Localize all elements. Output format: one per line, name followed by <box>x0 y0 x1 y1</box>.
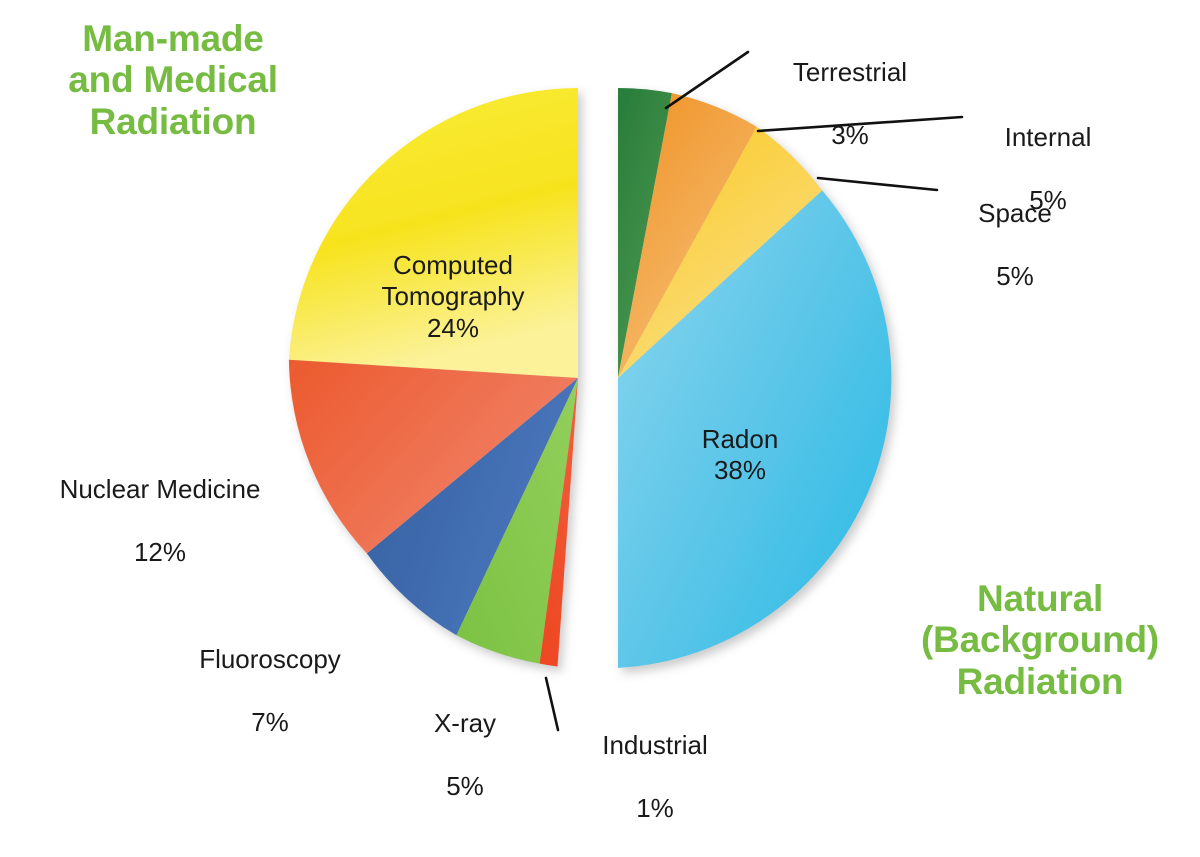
callout-space-name: Space <box>940 198 1090 230</box>
pie-chart-figure: Man-made and Medical Radiation Natural (… <box>0 0 1200 784</box>
callout-space-value: 5% <box>940 261 1090 293</box>
callout-internal-name: Internal <box>968 122 1128 154</box>
group-title-manmade: Man-made and Medical Radiation <box>28 18 318 142</box>
callout-nuclear-medicine: Nuclear Medicine 12% <box>30 442 290 601</box>
callout-xray: X-ray 5% <box>400 676 530 835</box>
callout-fluoroscopy-value: 7% <box>180 707 360 739</box>
slice-label-computed-tomography-name: Computed Tomography <box>381 250 524 312</box>
callout-xray-value: 5% <box>400 771 530 803</box>
callout-industrial-name: Industrial <box>575 730 735 762</box>
slice-label-radon: Radon 38% <box>640 392 840 487</box>
group-title-natural: Natural (Background) Radiation <box>890 578 1190 702</box>
slice-label-radon-name: Radon <box>702 424 779 454</box>
callout-terrestrial: Terrestrial 3% <box>760 25 940 184</box>
leader-line-terrestrial <box>666 52 748 108</box>
slice-label-radon-value: 38% <box>714 455 766 485</box>
callout-terrestrial-name: Terrestrial <box>760 57 940 89</box>
callout-industrial-value: 1% <box>575 793 735 825</box>
callout-terrestrial-value: 3% <box>760 120 940 152</box>
slice-label-computed-tomography: Computed Tomography 24% <box>338 218 568 345</box>
callout-fluoroscopy-name: Fluoroscopy <box>180 644 360 676</box>
callout-nuclear-medicine-name: Nuclear Medicine <box>30 474 290 506</box>
callout-space: Space 5% <box>940 166 1090 325</box>
slice-label-computed-tomography-value: 24% <box>427 313 479 343</box>
callout-industrial: Industrial 1% <box>575 698 735 857</box>
callout-nuclear-medicine-value: 12% <box>30 537 290 569</box>
callout-fluoroscopy: Fluoroscopy 7% <box>180 612 360 771</box>
callout-xray-name: X-ray <box>400 708 530 740</box>
leader-line-industrial <box>546 678 558 730</box>
pie-group-manmade <box>289 88 578 667</box>
